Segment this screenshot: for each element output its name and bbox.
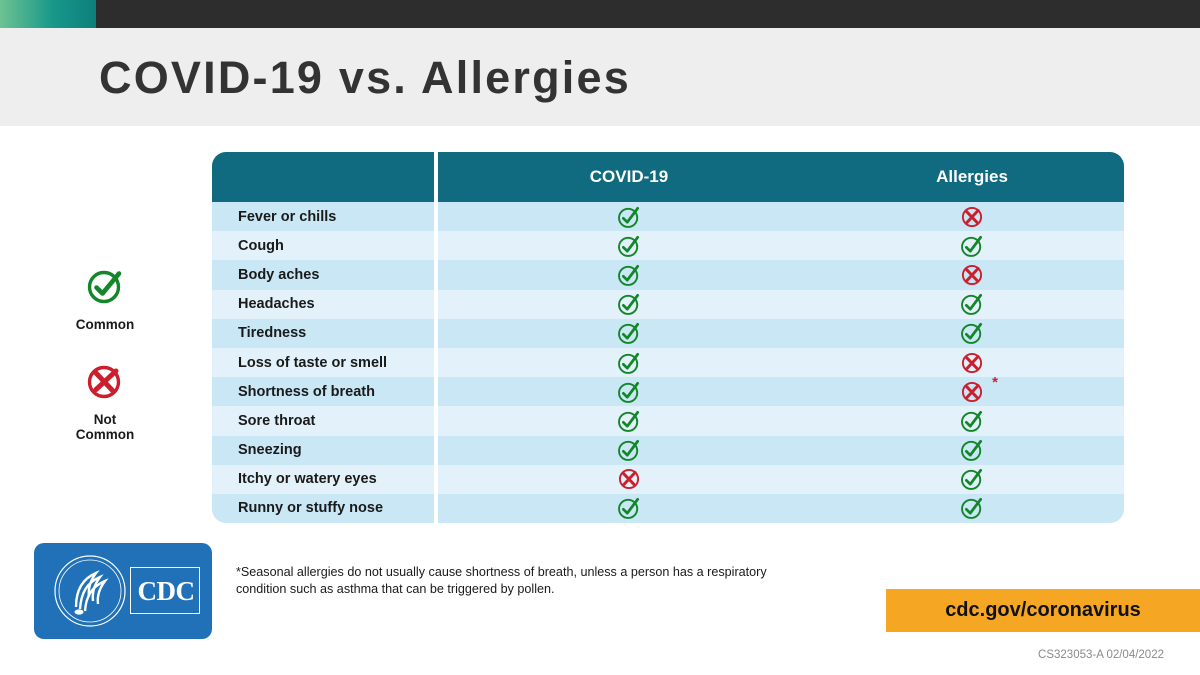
red-x-circle-icon (959, 204, 985, 230)
green-check-circle-icon (616, 379, 642, 405)
top-bar-accent-gradient (0, 0, 96, 28)
covid-value-cell (438, 406, 820, 435)
green-check-circle-icon (616, 233, 642, 259)
footnote-text: *Seasonal allergies do not usually cause… (236, 564, 836, 598)
comparison-table: COVID-19 Allergies Fever or chillsCoughB… (212, 152, 1128, 523)
table-row: Body aches (212, 260, 1128, 289)
red-x-circle-icon (959, 262, 985, 288)
table-row: Shortness of breath* (212, 377, 1128, 406)
green-check-circle-icon (616, 437, 642, 463)
red-x-circle-icon (959, 350, 985, 376)
legend: Common Not Common (62, 265, 148, 470)
table-header-symptom (212, 152, 434, 202)
legend-item-not-common: Not Common (62, 360, 148, 442)
cdc-wordmark-box: CDC (130, 567, 200, 614)
table-row: Itchy or watery eyes (212, 465, 1128, 494)
allergies-value-cell (820, 436, 1124, 465)
symptom-label: Itchy or watery eyes (212, 465, 434, 494)
symptom-label: Shortness of breath (212, 377, 434, 406)
green-check-circle-icon (959, 233, 985, 259)
legend-label-common: Common (62, 317, 148, 332)
allergies-value-cell (820, 406, 1124, 435)
allergies-value-cell: * (820, 377, 1124, 406)
symptom-label: Sore throat (212, 406, 434, 435)
page-title: COVID-19 vs. Allergies (99, 48, 631, 108)
table-header-allergies: Allergies (820, 152, 1124, 202)
publication-id: CS323053-A 02/04/2022 (1038, 649, 1164, 661)
url-banner[interactable]: cdc.gov/coronavirus (886, 589, 1200, 632)
symptom-label: Tiredness (212, 319, 434, 348)
symptom-label: Sneezing (212, 436, 434, 465)
green-check-circle-icon (959, 437, 985, 463)
red-x-circle-icon (62, 360, 148, 407)
table-body: Fever or chillsCoughBody achesHeadachesT… (212, 202, 1128, 523)
table-header-row: COVID-19 Allergies (212, 152, 1128, 202)
green-check-circle-icon (616, 350, 642, 376)
green-check-circle-icon (616, 495, 642, 521)
hhs-seal-icon (52, 553, 128, 634)
table-row: Runny or stuffy nose (212, 494, 1128, 523)
symptom-label: Headaches (212, 290, 434, 319)
covid-value-cell (438, 494, 820, 523)
covid-value-cell (438, 377, 820, 406)
top-bar (0, 0, 1200, 28)
table-row: Tiredness (212, 319, 1128, 348)
legend-label-not-common: Not Common (62, 412, 148, 442)
symptom-label: Body aches (212, 260, 434, 289)
green-check-circle-icon (959, 495, 985, 521)
table-row: Fever or chills (212, 202, 1128, 231)
table-row: Headaches (212, 290, 1128, 319)
green-check-circle-icon (616, 204, 642, 230)
allergies-value-cell (820, 319, 1124, 348)
covid-value-cell (438, 202, 820, 231)
green-check-circle-icon (959, 291, 985, 317)
green-check-circle-icon (959, 408, 985, 434)
symptom-label: Loss of taste or smell (212, 348, 434, 377)
allergies-value-cell (820, 260, 1124, 289)
green-check-circle-icon (959, 320, 985, 346)
green-check-circle-icon (616, 320, 642, 346)
covid-value-cell (438, 436, 820, 465)
green-check-circle-icon (616, 262, 642, 288)
covid-value-cell (438, 348, 820, 377)
symptom-label: Fever or chills (212, 202, 434, 231)
covid-value-cell (438, 231, 820, 260)
green-check-circle-icon (959, 466, 985, 492)
green-check-circle-icon (62, 265, 148, 312)
table-row: Sneezing (212, 436, 1128, 465)
covid-value-cell (438, 319, 820, 348)
table-row: Sore throat (212, 406, 1128, 435)
url-banner-text: cdc.gov/coronavirus (886, 589, 1200, 632)
allergies-value-cell (820, 231, 1124, 260)
table-row: Cough (212, 231, 1128, 260)
legend-item-common: Common (62, 265, 148, 332)
cdc-logo: CDC (34, 543, 212, 639)
allergies-value-cell (820, 494, 1124, 523)
allergies-value-cell (820, 348, 1124, 377)
table-row: Loss of taste or smell (212, 348, 1128, 377)
symptom-label: Cough (212, 231, 434, 260)
green-check-circle-icon (616, 408, 642, 434)
covid-value-cell (438, 290, 820, 319)
table-header-covid: COVID-19 (438, 152, 820, 202)
symptom-label: Runny or stuffy nose (212, 494, 434, 523)
allergies-value-cell (820, 202, 1124, 231)
footnote-marker: * (992, 375, 998, 390)
covid-value-cell (438, 260, 820, 289)
allergies-value-cell (820, 465, 1124, 494)
cdc-wordmark: CDC (131, 568, 200, 614)
red-x-circle-icon: * (959, 379, 985, 405)
covid-value-cell (438, 465, 820, 494)
green-check-circle-icon (616, 291, 642, 317)
allergies-value-cell (820, 290, 1124, 319)
red-x-circle-icon (616, 466, 642, 492)
